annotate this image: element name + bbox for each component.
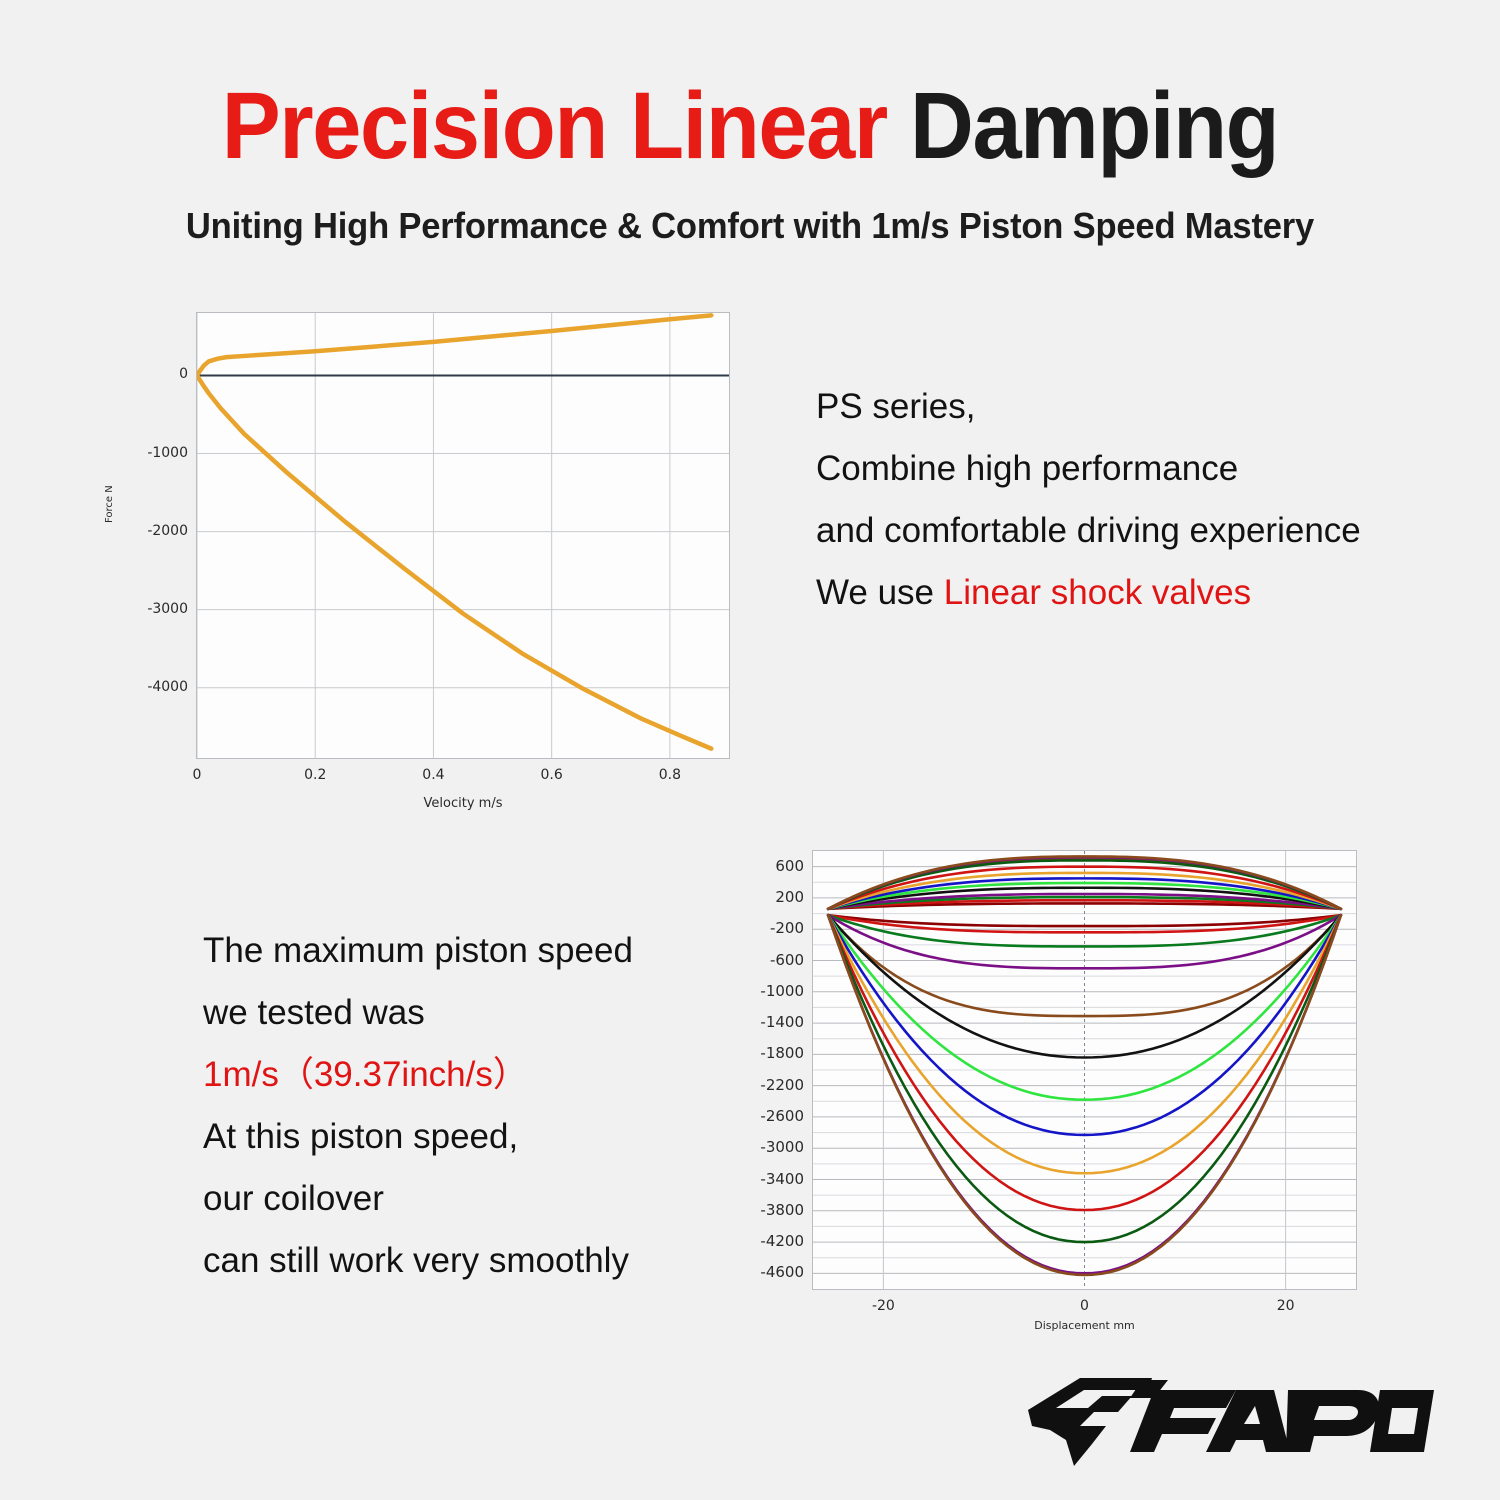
chart2-y-tick: -600 [770, 951, 804, 969]
copy-left-line-1: The maximum piston speed [203, 920, 633, 982]
chart2-y-tick: -2600 [760, 1107, 804, 1125]
copy-right-line-1: PS series, [816, 376, 1361, 438]
chart1-x-axis-title: Velocity m/s [424, 796, 503, 811]
chart1-plot-area [196, 312, 730, 759]
chart2-y-tick: -3800 [760, 1201, 804, 1219]
brand-logo: FAPO [1022, 1368, 1442, 1478]
chart1-y-tick: 0 [179, 366, 188, 382]
copy-right-highlight: Linear shock valves [944, 573, 1251, 612]
chart1-y-tick: -2000 [147, 523, 188, 539]
page-title-dark: Damping [887, 73, 1278, 179]
chart1-y-axis-title: Force N [104, 485, 115, 523]
copy-right-line-3: and comfortable driving experience [816, 500, 1361, 562]
chart1-x-tick: 0.8 [659, 767, 681, 783]
chart1-y-tick: -1000 [147, 445, 188, 461]
chart2-y-tick: -3400 [760, 1170, 804, 1188]
chart2-y-tick: -1800 [760, 1044, 804, 1062]
header-block: Precision Linear Damping Uniting High Pe… [0, 0, 1500, 246]
chart1-x-tick: 0.2 [304, 767, 326, 783]
chart2-y-tick: -1400 [760, 1013, 804, 1031]
chart2-y-tick: -1000 [760, 982, 804, 1000]
chart1-y-tick: -3000 [147, 601, 188, 617]
copy-left-line-5: our coilover [203, 1168, 633, 1230]
chart2-y-tick: -3000 [760, 1138, 804, 1156]
chart2-y-tick: -2200 [760, 1076, 804, 1094]
chart1-svg [197, 313, 729, 758]
copy-left-line-4: At this piston speed, [203, 1106, 633, 1168]
chart1-x-tick: 0.4 [422, 767, 444, 783]
page-title: Precision Linear Damping [53, 0, 1448, 174]
chart2-x-tick: -20 [872, 1298, 895, 1314]
copy-right-line-2: Combine high performance [816, 438, 1361, 500]
copy-block-right: PS series, Combine high performance and … [816, 376, 1361, 624]
chart2-x-tick: 0 [1080, 1298, 1089, 1314]
copy-left-line-6: can still work very smoothly [203, 1230, 633, 1292]
chart1-x-tick: 0.6 [541, 767, 563, 783]
chart1-x-tick: 0 [193, 767, 202, 783]
chart2-y-tick: 600 [775, 857, 804, 875]
chart-displacement-force: 600200-200-600-1000-1400-1800-2200-2600-… [752, 840, 1372, 1340]
copy-left-highlight: 1m/s（39.37inch/s） [203, 1044, 633, 1106]
copy-right-line-4: We use Linear shock valves [816, 562, 1361, 624]
chart2-x-axis-title: Displacement mm [1034, 1319, 1135, 1332]
page-subtitle: Uniting High Performance & Comfort with … [30, 174, 1470, 246]
chart2-plot-area [812, 850, 1357, 1290]
chart2-x-tick: 20 [1277, 1298, 1295, 1314]
copy-block-left: The maximum piston speed we tested was 1… [203, 920, 633, 1292]
fapo-logo-svg: FAPO [1022, 1368, 1442, 1478]
chart2-y-tick: 200 [775, 888, 804, 906]
chart1-y-tick: -4000 [147, 679, 188, 695]
page-title-accent: Precision Linear [222, 73, 887, 179]
copy-left-line-2: we tested was [203, 982, 633, 1044]
chart-force-velocity: Force N 0 -1000 -2000 -3000 -4000 0 0.2 … [110, 295, 770, 825]
chart2-svg [813, 851, 1356, 1289]
chart2-y-tick: -4600 [760, 1263, 804, 1281]
copy-right-prefix: We use [816, 573, 944, 612]
chart2-y-tick: -4200 [760, 1232, 804, 1250]
chart2-y-tick: -200 [770, 919, 804, 937]
fapo-wordmark [1130, 1390, 1434, 1452]
